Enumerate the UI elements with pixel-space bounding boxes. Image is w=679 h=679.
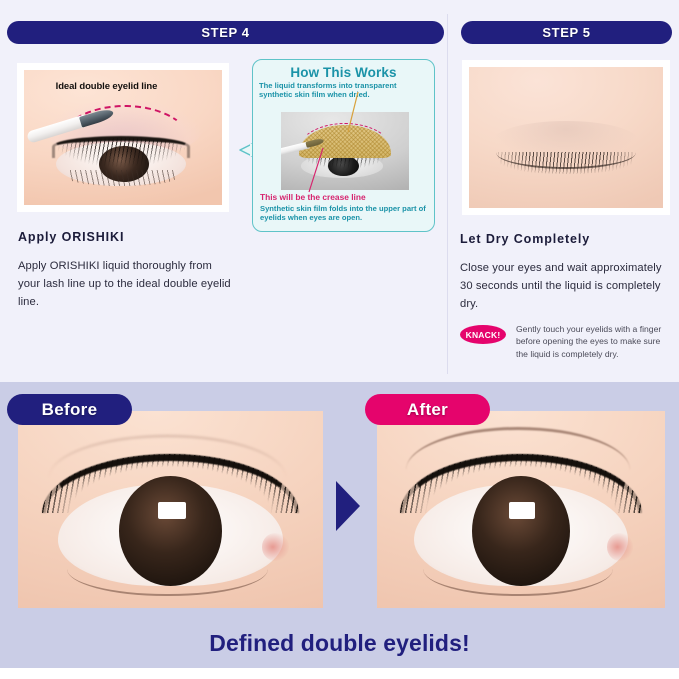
after-badge: After [365, 394, 490, 425]
lower-eyelashes [68, 170, 177, 186]
step-4-photo-frame: Ideal double eyelid line [17, 63, 229, 212]
after-eye-photo [377, 411, 665, 608]
how-this-works-title: How This Works [253, 65, 434, 80]
panel-divider [447, 14, 448, 374]
closed-eyelashes [498, 152, 634, 175]
knack-tip-text: Gently touch your eyelids with a finger … [516, 323, 671, 360]
steps-section: STEP 4 STEP 5 Ideal double eyelid line H… [0, 0, 679, 382]
knack-badge: KNACK! [460, 325, 506, 344]
after-photo-frame [377, 411, 665, 608]
before-photo-frame [18, 411, 323, 608]
how-this-works-diagram-photo [281, 112, 409, 190]
before-eye-photo [18, 411, 323, 608]
step-5-description: Close your eyes and wait approximately 3… [460, 259, 665, 313]
result-title: Defined double eyelids! [0, 630, 679, 657]
step-5-badge: STEP 5 [461, 21, 672, 44]
before-badge: Before [7, 394, 132, 425]
crease-line-caption: This will be the crease line [260, 192, 432, 202]
ideal-line-label: Ideal double eyelid line [56, 81, 158, 92]
how-this-works-callout: How This Works The liquid transforms int… [252, 59, 435, 232]
how-this-works-subtitle: The liquid transforms into transparent s… [259, 81, 429, 100]
step-5-closed-eye-photo [469, 67, 663, 208]
after-inner-corner [607, 533, 633, 561]
step-4-badge: STEP 4 [7, 21, 444, 44]
crease-line-subtitle: Synthetic skin film folds into the upper… [260, 204, 432, 223]
step-4-description: Apply ORISHIKI liquid thoroughly from yo… [18, 257, 233, 311]
footer-strip [0, 668, 679, 679]
step-5-heading: Let Dry Completely [460, 232, 590, 246]
before-inner-corner [262, 533, 289, 561]
step-4-heading: Apply ORISHIKI [18, 230, 124, 244]
transition-arrow-icon [336, 481, 360, 531]
step-4-eye-photo: Ideal double eyelid line [24, 70, 222, 205]
step-5-photo-frame [462, 60, 670, 215]
